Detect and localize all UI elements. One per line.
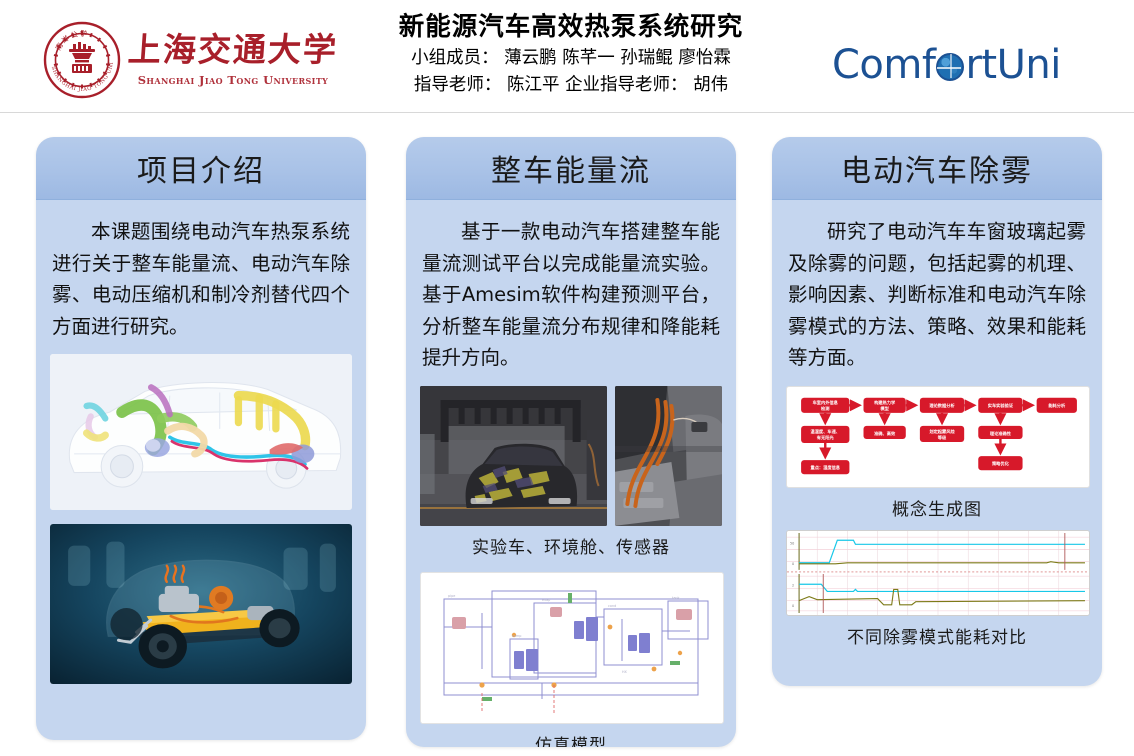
panel-header-ev-defog: 电动汽车除雾 <box>772 137 1102 200</box>
svg-text:有无阳光: 有无阳光 <box>817 434 835 441</box>
poster-main-title: 新能源汽车高效热泵系统研究 <box>336 12 806 44</box>
panel-header-project-intro: 项目介绍 <box>36 137 366 200</box>
svg-text:划定起雾风险: 划定起雾风险 <box>929 428 955 435</box>
svg-text:evap: evap <box>542 598 550 602</box>
svg-text:2: 2 <box>792 583 794 587</box>
comfortuni-logo: ComfrtUni <box>832 38 1094 92</box>
figure-caption: 不同除雾模式能耗对比 <box>786 616 1088 652</box>
svg-text:cond: cond <box>608 604 616 608</box>
team-members-line: 小组成员： 薄云鹏 陈芊一 孙瑞鲲 廖怡霖 <box>336 46 806 71</box>
panel-title: 项目介绍 <box>137 146 265 190</box>
figure-caption: 实验车、环境舱、传感器 <box>420 526 722 562</box>
sjtu-name-cn: 上海交通大学 <box>127 33 339 68</box>
svg-text:理论准确性: 理论准确性 <box>990 430 1012 437</box>
poster-header: 南洋公学 SHANGHAI JIAO TONG UNIVERSITY 上海交通大… <box>0 0 1134 112</box>
comfortuni-text-post: rtUni <box>965 42 1060 88</box>
panel-title: 整车能量流 <box>491 146 651 190</box>
comfortuni-wordmark: ComfrtUni <box>832 42 1061 88</box>
panel-paragraph: 本课题围绕电动汽车热泵系统进行关于整车能量流、电动汽车除雾、电动压缩机和制冷剂替… <box>52 216 350 342</box>
svg-text:温湿度、车速、: 温湿度、车速、 <box>810 428 840 435</box>
sjtu-logo: 南洋公学 SHANGHAI JIAO TONG UNIVERSITY 上海交通大… <box>42 14 334 106</box>
svg-text:comp: comp <box>512 634 521 638</box>
svg-text:等级: 等级 <box>938 434 947 441</box>
figure-caption: 概念生成图 <box>786 488 1088 524</box>
panel-energy-flow[interactable]: 整车能量流 基于一款电动汽车搭建整车能量流测试平台以完成能量流实验。基于Ames… <box>406 137 736 747</box>
panel-ev-defog[interactable]: 电动汽车除雾 研究了电动汽车车窗玻璃起雾及除雾的问题，包括起雾的机理、影响因素、… <box>772 137 1102 686</box>
advisors-line: 指导老师： 陈江平 企业指导老师： 胡伟 <box>336 73 806 98</box>
panel-row: 项目介绍 本课题围绕电动汽车热泵系统进行关于整车能量流、电动汽车除雾、电动压缩机… <box>0 113 1134 756</box>
title-block: 新能源汽车高效热泵系统研究 小组成员： 薄云鹏 陈芊一 孙瑞鲲 廖怡霖 指导老师… <box>336 12 806 99</box>
svg-text:tank: tank <box>672 596 680 600</box>
svg-text:50: 50 <box>790 541 794 545</box>
svg-text:理论数据分析: 理论数据分析 <box>929 402 955 409</box>
svg-text:能耗分析: 能耗分析 <box>1048 402 1066 409</box>
svg-text:HX: HX <box>622 670 628 674</box>
svg-text:0: 0 <box>792 562 794 566</box>
sjtu-seal-icon: 南洋公学 SHANGHAI JIAO TONG UNIVERSITY <box>42 20 122 100</box>
svg-text:策略优化: 策略优化 <box>992 460 1010 467</box>
panel-paragraph: 基于一款电动汽车搭建整车能量流测试平台以完成能量流实验。基于Amesim软件构建… <box>422 216 720 374</box>
svg-text:0: 0 <box>792 604 794 608</box>
svg-text:检测: 检测 <box>821 405 829 412</box>
comfortuni-text-pre: Comf <box>832 42 935 88</box>
panel-paragraph: 研究了电动汽车车窗玻璃起雾及除雾的问题，包括起雾的机理、影响因素、判断标准和电动… <box>788 216 1086 374</box>
sjtu-wordmark: 上海交通大学 Shanghai Jiao Tong University <box>128 20 338 100</box>
panel-title: 电动汽车除雾 <box>841 146 1033 190</box>
panel-header-energy-flow: 整车能量流 <box>406 137 736 200</box>
amesim-simulation-model: pipeevap condtank compHX <box>420 572 724 724</box>
svg-text:pipe: pipe <box>448 594 455 598</box>
svg-text:实车实验验证: 实车实验验证 <box>988 402 1014 409</box>
globe-icon <box>936 53 964 81</box>
sjtu-name-en: Shanghai Jiao Tong University <box>138 73 329 87</box>
panel-body: 基于一款电动汽车搭建整车能量流测试平台以完成能量流实验。基于Amesim软件构建… <box>406 200 736 747</box>
panel-body: 研究了电动汽车车窗玻璃起雾及除雾的问题，包括起雾的机理、影响因素、判断标准和电动… <box>772 200 1102 652</box>
panel-body: 本课题围绕电动汽车热泵系统进行关于整车能量流、电动汽车除雾、电动压缩机和制冷剂替… <box>36 200 366 684</box>
panel-project-intro[interactable]: 项目介绍 本课题围绕电动汽车热泵系统进行关于整车能量流、电动汽车除雾、电动压缩机… <box>36 137 366 740</box>
test-vehicle-photos <box>420 386 722 526</box>
figure-caption: 仿真模型 <box>420 724 722 747</box>
svg-text:模型: 模型 <box>880 405 889 412</box>
vehicle-thermal-harness-render <box>50 354 352 510</box>
svg-text:构建热力学: 构建热力学 <box>874 399 896 406</box>
svg-text:重点：湿度信息: 重点：湿度信息 <box>810 464 840 471</box>
concept-flowchart: 车室内外信息检测 构建热力学模型 理论数据分析 实车实验验证 能耗分析 温湿度、… <box>786 386 1090 488</box>
climate-chamber-photo <box>420 386 607 526</box>
svg-text:准确、高效: 准确、高效 <box>874 430 896 437</box>
defog-energy-plot: 500 20 <box>786 530 1090 616</box>
ev-skateboard-chassis-render <box>50 524 352 684</box>
svg-text:车室内外信息: 车室内外信息 <box>813 399 839 406</box>
sensor-rig-photo <box>615 386 722 526</box>
